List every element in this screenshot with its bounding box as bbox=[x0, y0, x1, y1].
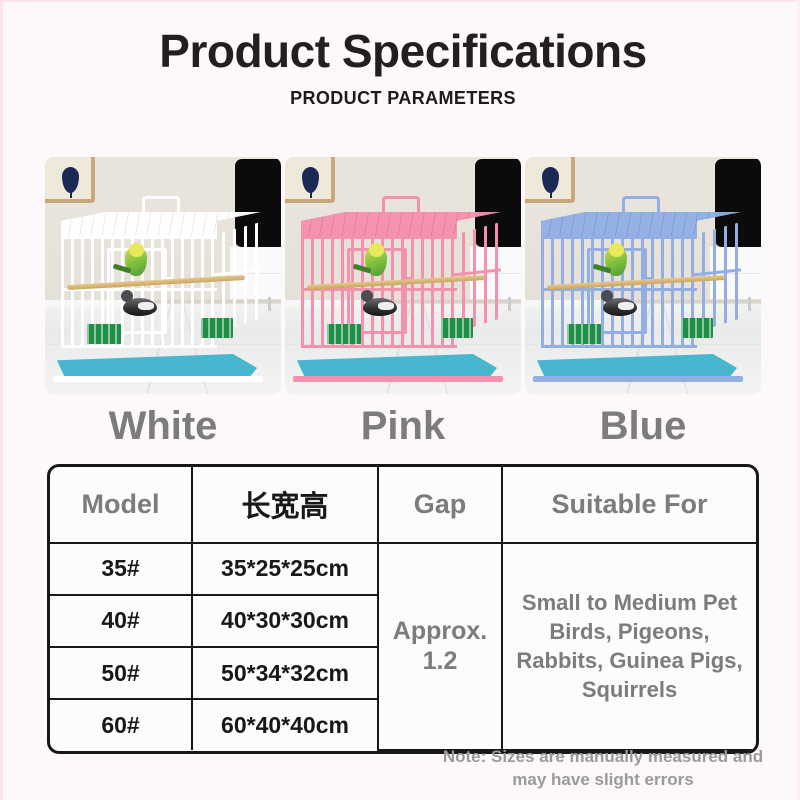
cage-base-rail bbox=[533, 376, 743, 382]
navy-ornament-icon bbox=[302, 167, 319, 193]
cage-tray bbox=[537, 354, 737, 378]
cell-model: 50# bbox=[50, 647, 192, 699]
dark-bird bbox=[363, 298, 397, 316]
table-header-row: Model 长宽高 Gap Suitable For bbox=[50, 467, 756, 543]
navy-ornament-icon bbox=[62, 167, 79, 193]
cell-model: 35# bbox=[50, 543, 192, 595]
page-subtitle: PRODUCT PARAMETERS bbox=[3, 88, 800, 109]
color-label-white: White bbox=[45, 400, 281, 452]
header-gap: Gap bbox=[378, 467, 502, 543]
header-suitable-for: Suitable For bbox=[502, 467, 756, 543]
green-budgie bbox=[365, 246, 387, 276]
bird-cage-blue-photo[interactable] bbox=[525, 157, 761, 394]
navy-ornament-icon bbox=[542, 167, 559, 193]
cell-gap: Approx. 1.2 bbox=[378, 543, 502, 750]
wall-art-frame bbox=[525, 157, 575, 203]
color-label-pink: Pink bbox=[285, 400, 521, 452]
cell-model: 40# bbox=[50, 595, 192, 647]
cage-base-rail bbox=[53, 376, 263, 382]
green-budgie bbox=[125, 246, 147, 276]
measurement-note: Note: Sizes are manually measured and ma… bbox=[433, 746, 773, 792]
feeder-left bbox=[567, 324, 601, 344]
console-leg bbox=[748, 297, 751, 311]
cell-dimensions: 60*40*40cm bbox=[192, 699, 378, 750]
specification-table: Model 长宽高 Gap Suitable For 35# 35*25*25c… bbox=[47, 464, 759, 754]
header-model: Model bbox=[50, 467, 192, 543]
wall-art-frame bbox=[285, 157, 335, 203]
cage-tray bbox=[57, 354, 257, 378]
cell-dimensions: 50*34*32cm bbox=[192, 647, 378, 699]
bird-cage-white-photo[interactable] bbox=[45, 157, 281, 394]
feeder-right bbox=[441, 318, 473, 338]
color-label-row: White Pink Blue bbox=[45, 400, 761, 452]
cage-base-rail bbox=[293, 376, 503, 382]
console-leg bbox=[508, 297, 511, 311]
product-spec-page: Product Specifications PRODUCT PARAMETER… bbox=[0, 0, 800, 800]
bird-cage bbox=[301, 212, 501, 362]
green-budgie bbox=[605, 246, 627, 276]
gap-line-1: Approx. bbox=[379, 616, 501, 646]
wall-art-frame bbox=[45, 157, 95, 203]
feeder-right bbox=[201, 318, 233, 338]
console-leg bbox=[268, 297, 271, 311]
cage-handle bbox=[382, 196, 420, 212]
cell-dimensions: 40*30*30cm bbox=[192, 595, 378, 647]
cage-tray bbox=[297, 354, 497, 378]
cell-dimensions: 35*25*25cm bbox=[192, 543, 378, 595]
feeder-left bbox=[87, 324, 121, 344]
cage-handle bbox=[142, 196, 180, 212]
dark-bird bbox=[123, 298, 157, 316]
bird-cage-pink-photo[interactable] bbox=[285, 157, 521, 394]
cell-model: 60# bbox=[50, 699, 192, 750]
color-label-blue: Blue bbox=[525, 400, 761, 452]
dark-bird bbox=[603, 298, 637, 316]
feeder-right bbox=[681, 318, 713, 338]
bird-cage bbox=[61, 212, 261, 362]
product-photo-strip bbox=[45, 157, 761, 394]
cell-suitable-for: Small to Medium Pet Birds, Pigeons, Rabb… bbox=[502, 543, 756, 750]
table-row: 35# 35*25*25cm Approx. 1.2 Small to Medi… bbox=[50, 543, 756, 595]
bird-cage bbox=[541, 212, 741, 362]
cage-handle bbox=[622, 196, 660, 212]
page-title: Product Specifications bbox=[3, 24, 800, 78]
feeder-left bbox=[327, 324, 361, 344]
gap-line-2: 1.2 bbox=[379, 646, 501, 676]
header-dimensions: 长宽高 bbox=[192, 467, 378, 543]
